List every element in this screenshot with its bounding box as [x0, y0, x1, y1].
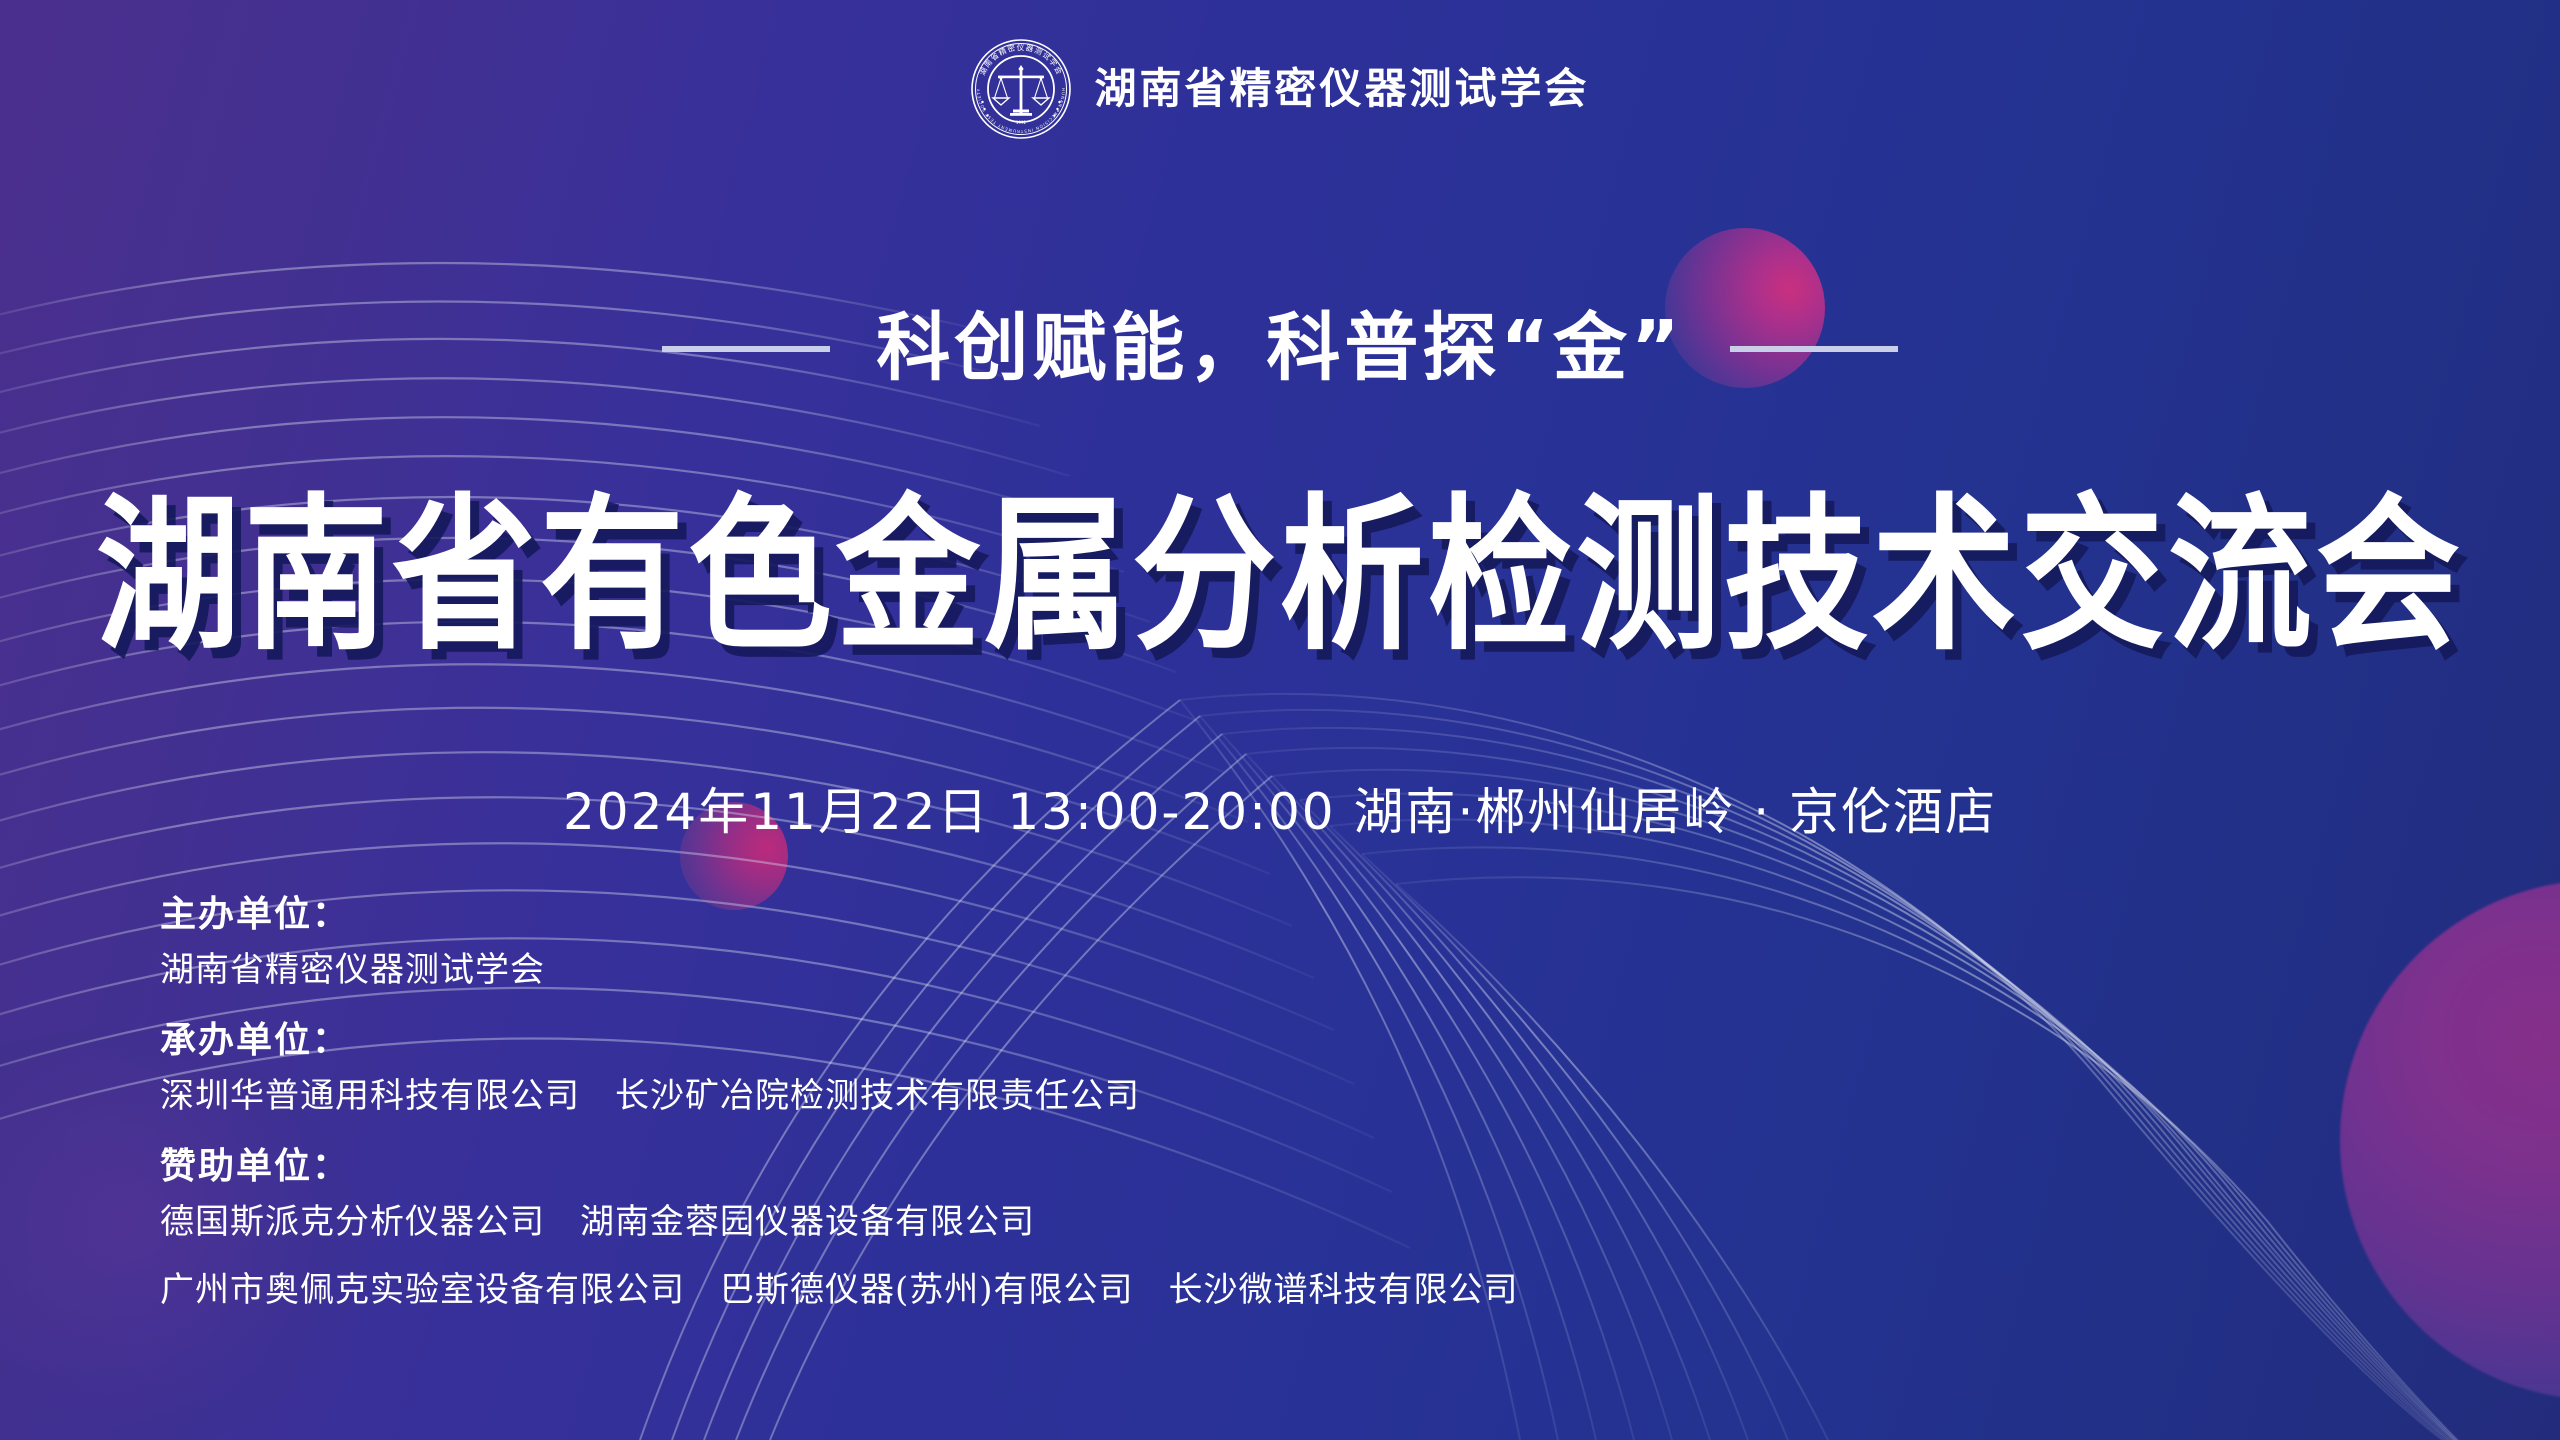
organizations-block: 主办单位： 湖南省精密仪器测试学会 承办单位： 深圳华普通用科技有限公司 长沙矿…: [160, 890, 1519, 1336]
host-entry: 湖南省精密仪器测试学会: [160, 947, 1519, 995]
organizer-heading: 承办单位：: [160, 1016, 1519, 1065]
org-group-host: 主办单位： 湖南省精密仪器测试学会: [160, 890, 1519, 994]
subtitle-row: 科创赋能，科普探“金”: [0, 310, 2560, 388]
sponsor-heading: 赞助单位：: [160, 1142, 1519, 1191]
main-title: 湖南省有色金属分析检测技术交流会: [0, 486, 2560, 666]
sponsor-entry-1: 德国斯派克分析仪器公司 湖南金蓉园仪器设备有限公司: [160, 1199, 1519, 1247]
org-group-sponsor: 赞助单位： 德国斯派克分析仪器公司 湖南金蓉园仪器设备有限公司 广州市奥佩克实验…: [160, 1142, 1519, 1314]
org-group-organizer: 承办单位： 深圳华普通用科技有限公司 长沙矿冶院检测技术有限责任公司: [160, 1016, 1519, 1120]
balance-scale-seal-logo: 湖南省精密仪器测试学会 HUNAN PRECISION INSTRUMENT T…: [970, 38, 1072, 140]
subtitle-rule-right: [1730, 346, 1898, 352]
magenta-circle-bottom-right: [2340, 880, 2560, 1400]
conference-banner: 湖南省精密仪器测试学会 HUNAN PRECISION INSTRUMENT T…: [0, 0, 2560, 1440]
society-name-text: 湖南省精密仪器测试学会: [1094, 68, 1589, 110]
host-heading: 主办单位：: [160, 890, 1519, 939]
sponsor-entry-2: 广州市奥佩克实验室设备有限公司 巴斯德仪器(苏州)有限公司 长沙微谱科技有限公司: [160, 1267, 1519, 1315]
subtitle-text: 科创赋能，科普探“金”: [876, 310, 1683, 388]
svg-text:1992: 1992: [1016, 120, 1027, 125]
event-datetime-venue: 2024年11月22日 13:00-20:00 湖南·郴州仙居岭 · 京伦酒店: [0, 772, 2560, 844]
subtitle-rule-left: [662, 346, 830, 352]
society-logo-header: 湖南省精密仪器测试学会 HUNAN PRECISION INSTRUMENT T…: [0, 38, 2560, 140]
organizer-entry: 深圳华普通用科技有限公司 长沙矿冶院检测技术有限责任公司: [160, 1073, 1519, 1121]
